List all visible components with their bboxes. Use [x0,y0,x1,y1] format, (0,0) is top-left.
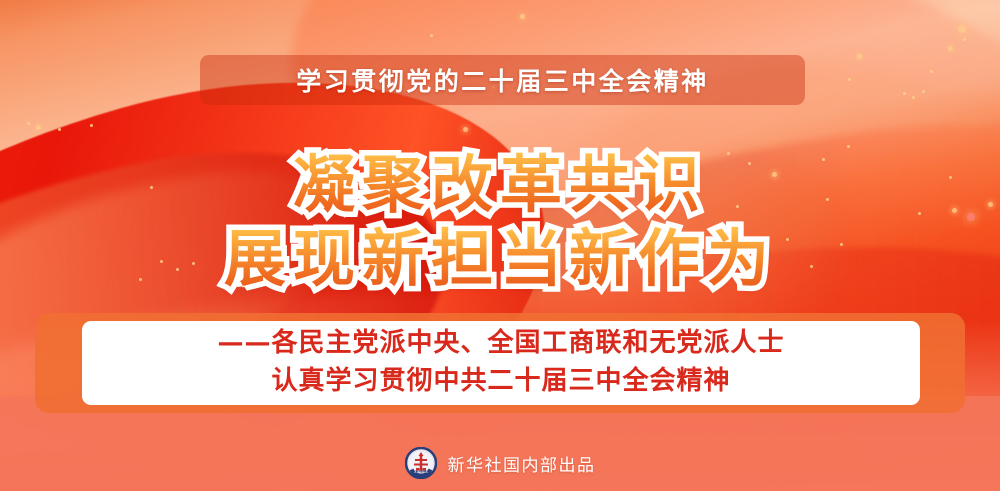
sparkle [903,92,906,95]
svg-text:XINHUA: XINHUA [414,470,428,474]
sparkle [463,127,468,132]
top-banner: 学习贯彻党的二十届三中全会精神 [200,55,805,105]
subtitle-box: ——各民主党派中央、全国工商联和无党派人士 认真学习贯彻中共二十届三中全会精神 [82,321,920,405]
sparkle [520,14,525,19]
sparkle [963,38,966,41]
sparkle [958,25,966,33]
main-title-line-1: 凝聚改革共识 凝聚改革共识 [0,152,1000,218]
subtitle-line-1: ——各民主党派中央、全国工商联和无党派人士 [217,325,784,363]
sparkle [58,128,61,131]
sparkle [848,78,851,81]
sparkle [90,124,93,127]
xinhua-news-agency-logo-icon: XINHUA [405,447,437,479]
sparkle [27,122,30,125]
main-title-line-1-fill: 凝聚改革共识 [0,152,1000,218]
main-title: 凝聚改革共识 凝聚改革共识 展现新担当新作为 展现新担当新作为 [0,152,1000,291]
sparkle [847,145,850,148]
sparkle [857,54,862,59]
sparkle [922,90,925,93]
sparkle [912,96,915,99]
main-title-line-2: 展现新担当新作为 展现新担当新作为 [0,226,1000,292]
sparkle [430,34,433,37]
main-title-line-2-fill: 展现新担当新作为 [0,226,1000,292]
sparkle [930,70,933,73]
top-banner-text: 学习贯彻党的二十届三中全会精神 [296,62,709,98]
footer-credit-text: 新华社国内部出品 [448,451,596,476]
subtitle-line-2: 认真学习贯彻中共二十届三中全会精神 [271,363,730,401]
sparkle [36,125,41,130]
footer: XINHUA 新华社国内部出品 [0,447,1000,479]
poster-canvas: 学习贯彻党的二十届三中全会精神 凝聚改革共识 凝聚改革共识 展现新担当新作为 展… [0,0,1000,491]
subtitle-frame: ——各民主党派中央、全国工商联和无党派人士 认真学习贯彻中共二十届三中全会精神 [35,313,965,413]
sparkle [948,46,953,51]
